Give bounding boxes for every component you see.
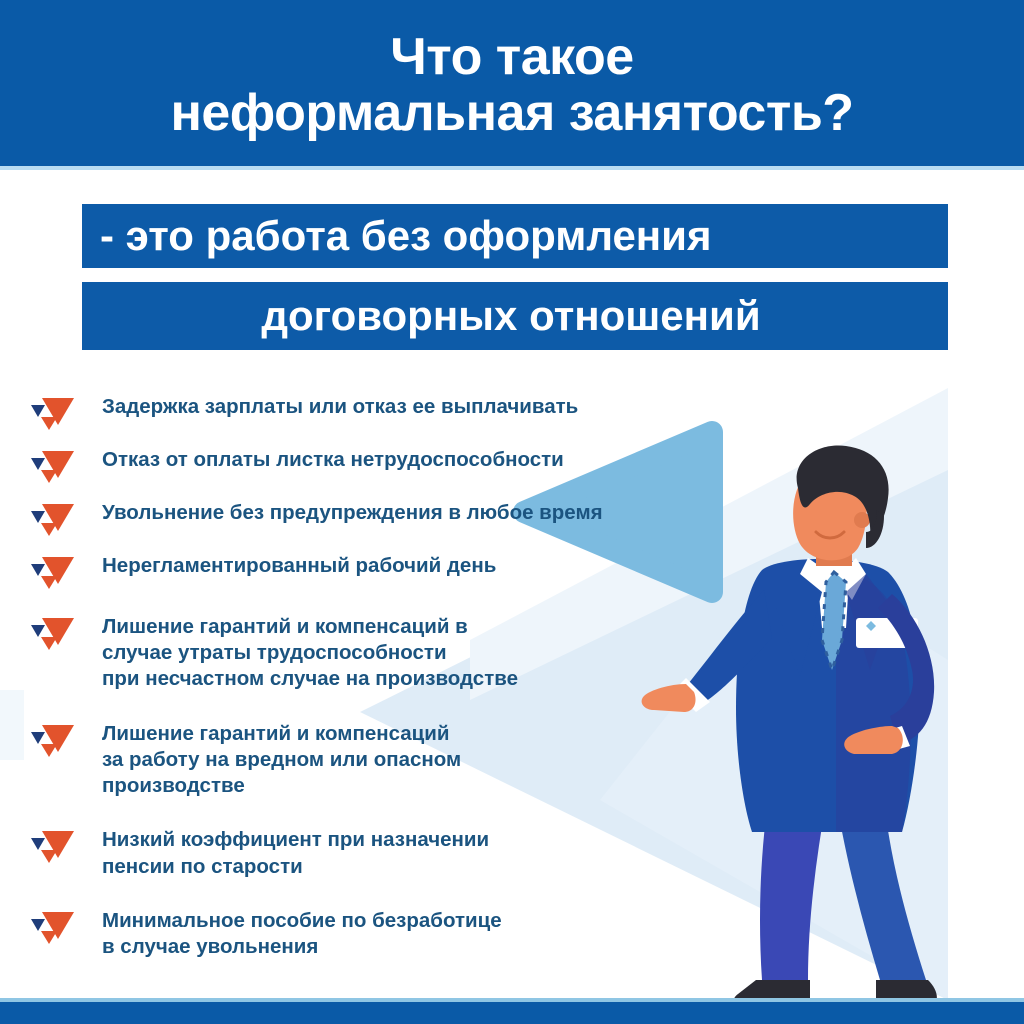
subtitle-banner-2: договорных отношений	[82, 282, 948, 350]
header-banner: Что такое неформальная занятость?	[0, 0, 1024, 166]
list-item: Задержка зарплаты или отказ ее выплачива…	[30, 392, 730, 432]
footer-bar	[0, 1002, 1024, 1024]
list-item: Минимальное пособие по безработице в слу…	[30, 906, 730, 960]
list-item: Лишение гарантий и компенсаций в случае …	[30, 612, 730, 693]
header-title-line-2: неформальная занятость?	[170, 85, 853, 141]
header-title-line-1: Что такое	[390, 29, 633, 85]
subtitle-banner-1: - это работа без оформления	[82, 204, 948, 268]
list-item: Увольнение без предупреждения в любое вр…	[30, 498, 730, 538]
infographic-poster: Что такое неформальная занятость? - это …	[0, 0, 1024, 1024]
list-item: Низкий коэффициент при назначении пенсии…	[30, 825, 730, 879]
list-item-label: Минимальное пособие по безработице в слу…	[74, 906, 502, 960]
list-item-label: Нерегламентированный рабочий день	[74, 551, 496, 579]
list-item: Лишение гарантий и компенсаций за работу…	[30, 719, 730, 800]
list-item-label: Лишение гарантий и компенсаций за работу…	[74, 719, 461, 800]
list-item-label: Лишение гарантий и компенсаций в случае …	[74, 612, 518, 693]
businessman-presenting-illustration	[640, 440, 1024, 1010]
triangle-bullet-icon	[30, 555, 74, 591]
consequences-list: Задержка зарплаты или отказ ее выплачива…	[30, 392, 730, 973]
triangle-bullet-icon	[30, 502, 74, 538]
triangle-bullet-icon	[30, 910, 74, 946]
list-item-label: Задержка зарплаты или отказ ее выплачива…	[74, 392, 578, 420]
triangle-bullet-icon	[30, 396, 74, 432]
ear-shape	[854, 512, 870, 528]
subtitle-banner-2-text: договорных отношений	[261, 292, 760, 340]
triangle-bullet-icon	[30, 829, 74, 865]
list-item: Нерегламентированный рабочий день	[30, 551, 730, 591]
triangle-bullet-icon	[30, 449, 74, 485]
list-item-label: Увольнение без предупреждения в любое вр…	[74, 498, 603, 526]
list-item-label: Отказ от оплаты листка нетрудоспособност…	[74, 445, 564, 473]
triangle-bullet-icon	[30, 616, 74, 652]
triangle-bullet-icon	[30, 723, 74, 759]
subtitle-banner-1-text: - это работа без оформления	[100, 212, 712, 260]
hand-left-shape	[642, 684, 696, 712]
header-bottom-rule	[0, 166, 1024, 170]
list-item-label: Низкий коэффициент при назначении пенсии…	[74, 825, 489, 879]
list-item: Отказ от оплаты листка нетрудоспособност…	[30, 445, 730, 485]
faint-band-shape	[0, 690, 24, 760]
